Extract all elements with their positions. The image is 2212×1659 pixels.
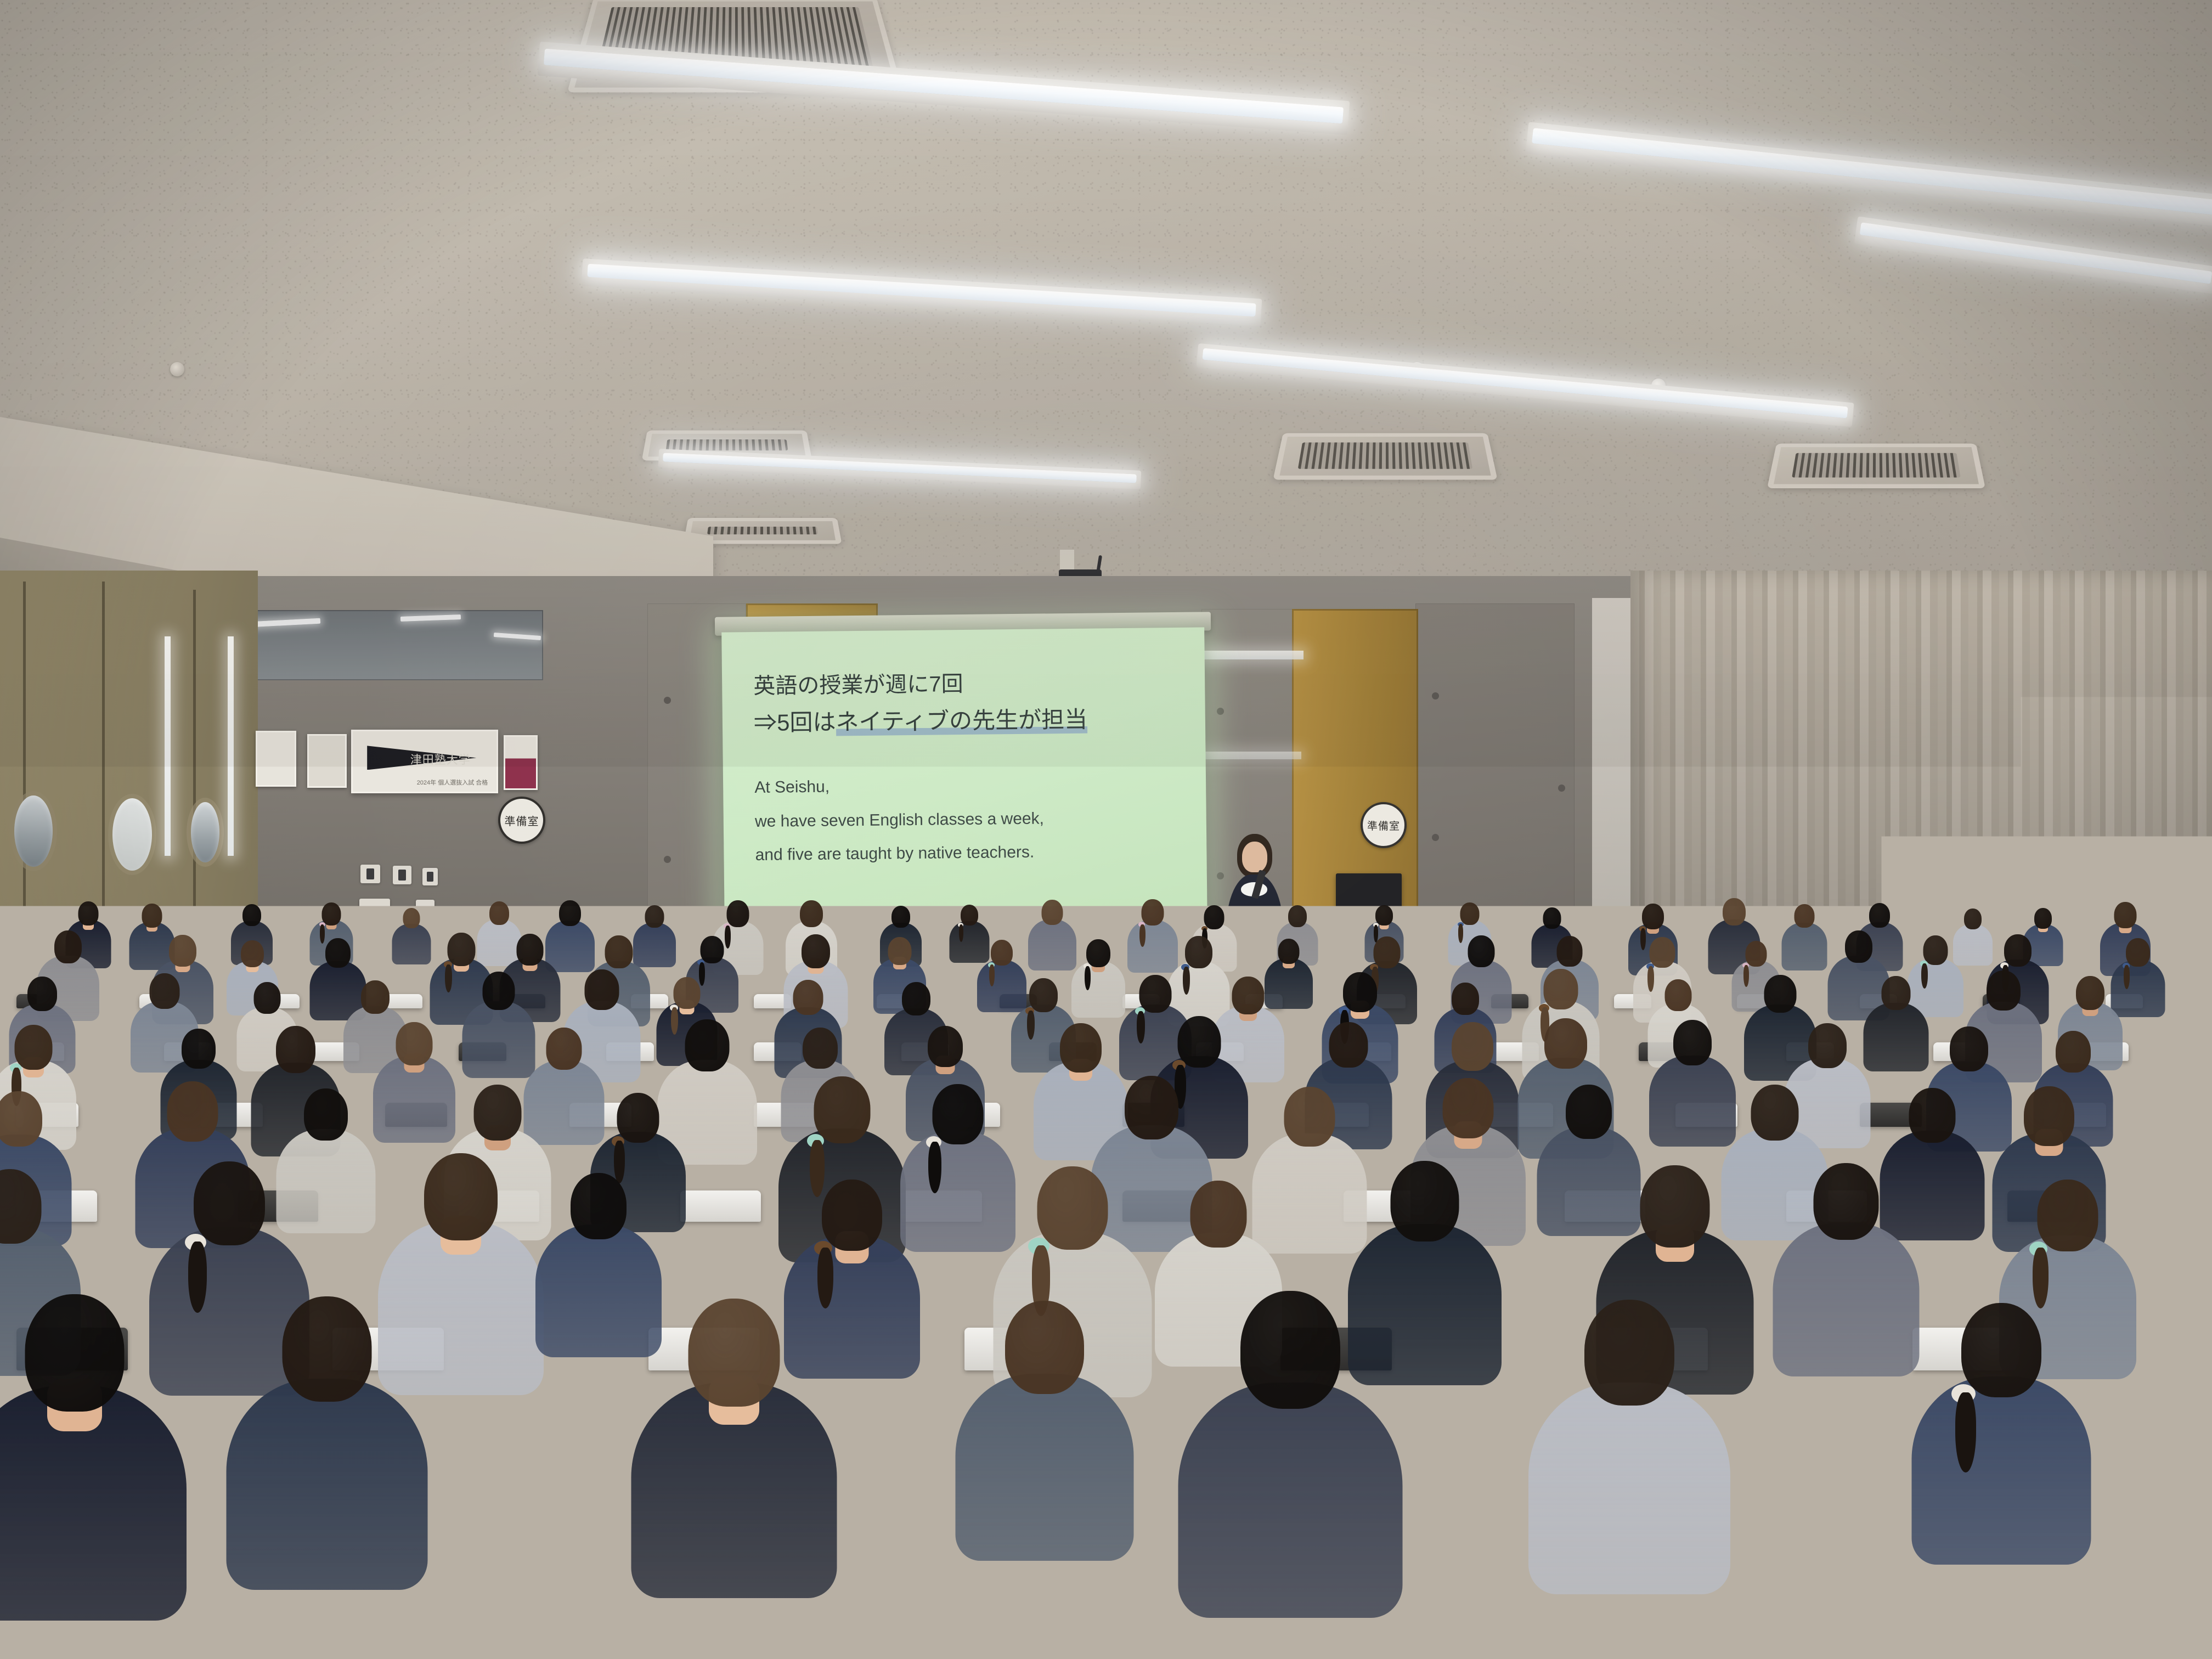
audience-member-head [1232,977,1265,1014]
audience-member-head [424,1153,498,1240]
ac-vent-icon [1273,433,1497,479]
audience-member-head [2056,1031,2091,1073]
wall-anchor-dot [1432,834,1439,841]
lecture-hall-photo: 津田塾大学 2024年 個人選抜入試 合格 準備室 準備室 英語の授業が週に7回… [0,0,2212,1659]
outlet-plate [359,899,390,914]
audience-member [955,1301,1133,1581]
audience-member-head [1723,898,1746,926]
audience-member-head [793,980,823,1015]
audience-member-head [1566,1085,1612,1139]
audience-member-head [1794,904,1814,928]
corridor-light [228,636,234,856]
audience-member-head [361,980,390,1014]
audience-member-head [1745,941,1767,967]
audience-member [1863,976,1928,1079]
ac-vent-icon [1767,444,1985,488]
audience-member-head [2114,902,2137,928]
ponytail [2124,965,2130,989]
wall-poster [307,734,347,788]
audience-member-head [1642,904,1664,929]
audience-member-head [1987,970,2021,1011]
audience-member-head [673,977,700,1009]
audience-member-head [1845,930,1872,963]
slide-english-line-3: and five are taught by native teachers. [755,834,1187,872]
audience-member-head [1240,1291,1340,1409]
audience-member-head [1374,936,1401,968]
audience-member-head [688,1299,780,1407]
ponytail [1955,1392,1976,1472]
ponytail [1085,966,1091,990]
wall-anchor-dot [1217,708,1224,715]
audience-member-head [253,982,280,1014]
slide-jp2-prefix: ⇒5回は [754,709,836,736]
audience-member-head [1190,1181,1247,1248]
screen-surface: 英語の授業が週に7回 ⇒5回はネイティブの先生が担当 At Seishu, we… [721,627,1207,928]
audience-member [631,1299,837,1622]
light-switch[interactable] [422,868,438,885]
audience-member-head [516,934,543,966]
audience-member-head [2076,976,2104,1010]
audience-member-head [891,906,910,928]
audience-member-head [25,1294,125,1412]
audience-member-head [1650,937,1675,968]
audience-member-head [1086,939,1110,967]
audience-member-head [1543,969,1578,1009]
audience-member-head [2126,938,2150,967]
audience-member-head [888,937,912,965]
audience-member-head [1391,1161,1459,1242]
audience-member [1178,1291,1402,1644]
prep-room-label: 準備室 [505,812,539,828]
audience-member-head [321,902,341,926]
audience-member-head [1909,1088,1955,1143]
audience-member-head [54,930,82,963]
audience-member-head [1460,902,1479,925]
ponytail [1139,924,1145,947]
audience-member-head [1664,979,1691,1011]
audience-member-body [1863,1003,1928,1071]
corridor-light [165,636,171,856]
window-light [1192,752,1301,759]
audience-member-head [1468,935,1494,967]
bag-charm [195,1543,218,1566]
audience-member-head [2004,934,2032,967]
slide-japanese-line-2: ⇒5回はネイティブの先生が担当 [754,702,1186,740]
audience-member-head [1640,1165,1709,1248]
slide-english-block: At Seishu, we have seven English classes… [754,766,1188,872]
audience-member-head [282,1296,371,1402]
audience-member-head [1005,1301,1084,1394]
audience-member-head [1042,900,1063,925]
ponytail [1137,1011,1145,1043]
tea-bottle [2178,1009,2194,1054]
chair[interactable] [680,1190,761,1222]
porthole-window [112,798,152,871]
audience-member-head [584,969,619,1010]
audience-member-head [0,1091,42,1147]
ponytail [989,964,995,986]
window-light [1188,651,1304,659]
audience-member-head [800,900,823,927]
audience-member [1071,939,1125,1024]
audience-member-head [645,905,664,928]
university-pennant-frame: 津田塾大学 2024年 個人選抜入試 合格 [351,730,498,793]
audience-member-head [1284,1087,1335,1147]
audience-member-body [226,1379,427,1590]
audience-member-head [27,977,57,1011]
prep-room-label: 準備室 [1367,818,1400,833]
wall-anchor-dot [1558,785,1565,792]
audience-member-head [447,933,475,966]
wall-poster [504,735,538,790]
audience-member-body [1911,1376,2091,1565]
audience-member-head [242,904,261,926]
pennant-caption: 2024年 個人選抜入試 合格 [417,778,488,787]
audience-member-head [1178,1016,1221,1068]
audience-member-head [902,982,930,1015]
audience-member [373,1022,455,1152]
audience-member-head [1557,936,1583,967]
brochure-mark: se [1418,1494,1449,1527]
audience-member-head [802,934,830,968]
audience-member-head [1452,1022,1493,1071]
audience-member-head [726,900,749,927]
partition-seam [23,582,26,960]
audience-member-head [1452,983,1479,1015]
audience-member-head [1343,972,1377,1012]
audience-member-head [1443,1078,1494,1138]
slide-english-line-1: At Seishu, [754,766,1187,805]
audience-member-head [1869,903,1890,928]
audience-member-head [1813,1163,1878,1240]
porthole-window [191,802,219,862]
audience-member-head [142,904,162,928]
audience-member-body [955,1374,1133,1561]
audience-member-head [1139,975,1172,1013]
audience-member-head [803,1028,838,1069]
audience-member-head [961,905,978,926]
audience-member-head [822,1180,882,1251]
audience-member-head [1288,905,1307,927]
audience-member-head [325,938,351,968]
audience-member-head [1544,1018,1587,1069]
audience-member-body [392,924,431,964]
audience-member-head [473,1085,521,1141]
audience-member-head [1543,907,1561,929]
audience-member-head [1185,936,1212,968]
light-switch[interactable] [360,865,380,883]
audience-member-head [167,1081,218,1142]
slide-jp2-highlight: ネイティブの先生が担当 [836,707,1087,736]
porthole-window [14,795,53,867]
audience-member-head [1060,1023,1102,1073]
audience-member-head [1764,975,1797,1013]
audience-member-head [276,1026,315,1073]
audience-member-head [1751,1085,1798,1141]
slide-japanese-line-1: 英語の授業が週に7回 [753,666,1186,702]
ponytail [959,924,963,942]
audience-member-head [15,1025,53,1070]
audience-member-head [1204,905,1224,929]
audience-member-head [1964,909,1982,929]
audience-member-head [1037,1166,1108,1250]
wall-poster [256,731,296,787]
movable-partition-wall [0,571,258,955]
ponytail [2033,1248,2049,1308]
audience-member-head [489,901,509,925]
audience-member-body [1773,1223,1919,1376]
audience-member [1781,904,1827,975]
prep-room-sign-left: 準備室 [498,797,545,844]
prep-room-sign-right: 準備室 [1361,802,1407,848]
audience-member-head [2038,1180,2098,1251]
audience-member-head [2034,908,2052,929]
audience-member-head [546,1028,582,1070]
audience-member-head [1029,978,1058,1012]
audience-member [226,1296,427,1613]
audience-member-head [814,1076,871,1143]
audience-member-head [1808,1023,1847,1068]
pennant-title: 津田塾大学 [410,751,471,768]
sprinkler-icon [170,362,184,376]
light-switch[interactable] [393,866,411,884]
audience-member-head [617,1093,659,1143]
audience-member-head [1375,905,1393,926]
audience-member-head [194,1161,265,1245]
audience-member-head [685,1019,730,1071]
audience-member [1528,1300,1730,1617]
audience-member-head [605,935,633,968]
audience-member-head [1923,935,1948,965]
slide-content: 英語の授業が週に7回 ⇒5回はネイティブの先生が担当 At Seishu, we… [753,666,1187,872]
audience-member [1773,1163,1919,1393]
audience-member-head [1950,1026,1988,1071]
audience-member-head [150,973,180,1009]
audience-member-head [1673,1020,1712,1065]
audience-member [392,908,431,969]
audience-member-head [928,1026,963,1067]
slide-english-line-2: we have seven English classes a week, [755,800,1187,838]
wall-anchor-dot [1217,872,1224,879]
audience-member-head [396,1022,433,1065]
partition-seam [193,590,196,963]
audience-member-head [304,1088,348,1141]
projection-screen: 英語の授業が週に7回 ⇒5回はネイティブの先生が担当 At Seishu, we… [721,627,1207,928]
audience-member-head [482,972,515,1010]
audience-member-body [1178,1383,1402,1618]
audience-member-head [169,935,196,967]
transom-window [236,610,543,680]
audience-member-head [1329,1022,1368,1068]
presenter-face [1242,842,1267,872]
audience-member-body [1028,919,1076,970]
audience-member-head [78,901,98,926]
wall-anchor-dot [664,856,671,863]
audience-member-head [1961,1303,2041,1397]
ponytail [188,1242,207,1313]
audience-member [1911,1303,2091,1585]
ponytail [928,1142,941,1193]
audience-member [0,1294,187,1646]
audience-member-head [991,940,1013,966]
audience-member-head [0,1169,42,1244]
audience-member-body [1528,1383,1730,1594]
audience-member-head [241,940,264,967]
audience-member-head [403,908,420,928]
audience-member-head [182,1029,216,1069]
ponytail [445,964,452,992]
audience-member-head [1584,1300,1674,1406]
audience-member-head [1125,1076,1178,1139]
audience-member-head [1278,939,1300,964]
concrete-panel [1415,603,1575,938]
audience-member-head [1881,976,1910,1010]
audience-member-head [933,1084,984,1144]
audience-member-head [701,936,724,963]
audience-member-body [1781,923,1827,970]
audience-member [1028,900,1076,976]
audience-member-head [571,1173,627,1239]
audience-member-head [2024,1086,2074,1146]
audience-member-head [559,900,581,926]
wall-anchor-dot [664,697,671,704]
audience-member-head [1142,899,1164,926]
wall-anchor-dot [1432,692,1439,699]
